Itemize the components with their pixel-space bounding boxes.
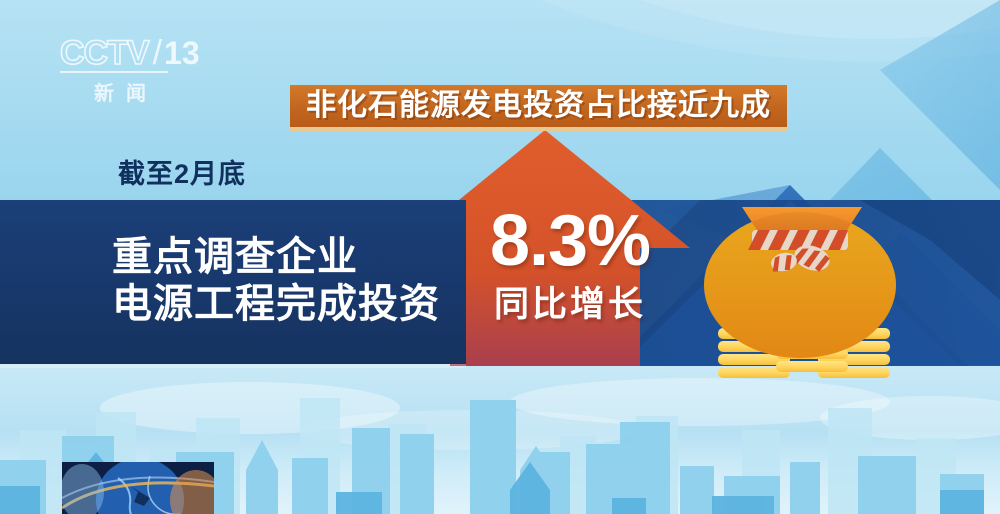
logo-slash: / bbox=[153, 36, 162, 70]
news-globe-thumbnail bbox=[60, 458, 222, 514]
dateline-text: 截至2月底 bbox=[118, 152, 246, 191]
headline-banner: 非化石能源发电投资占比接近九成 bbox=[290, 85, 787, 127]
headline-text: 非化石能源发电投资占比接近九成 bbox=[306, 91, 771, 121]
main-statement: 重点调查企业 电源工程完成投资 bbox=[112, 234, 472, 328]
channel-number: 13 bbox=[164, 37, 200, 69]
cctv-channel-logo: CCTV / 13 新闻 bbox=[60, 36, 220, 106]
channel-subtitle: 新闻 bbox=[60, 77, 180, 106]
cctv-wordmark: CCTV bbox=[60, 36, 149, 70]
main-statement-line-1: 重点调查企业 bbox=[112, 234, 472, 281]
infographic-stage: CCTV / 13 新闻 非化石能源发电投资占比接近九成 截至2月底 重点调查企… bbox=[0, 0, 1000, 514]
main-statement-line-2: 电源工程完成投资 bbox=[112, 281, 472, 328]
